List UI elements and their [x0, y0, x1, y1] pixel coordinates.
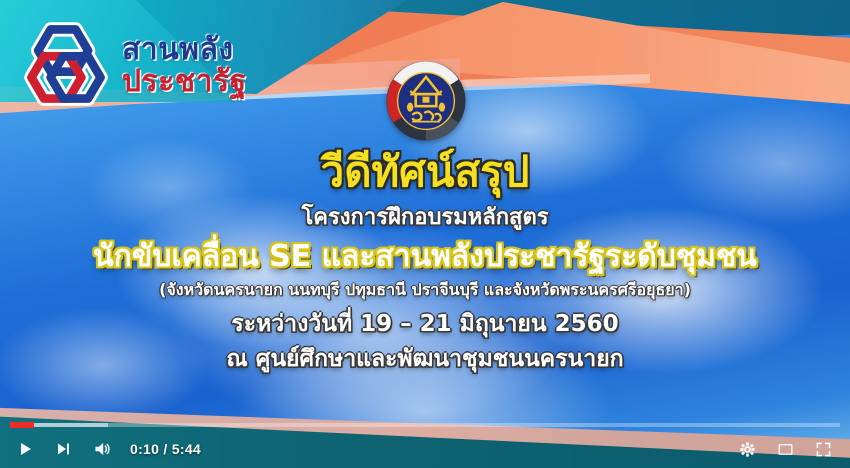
volume-button[interactable]: [82, 434, 120, 464]
settings-button[interactable]: [728, 434, 766, 464]
fullscreen-button[interactable]: [804, 434, 842, 464]
video-player[interactable]: สานพลัง ประชารัฐ: [0, 0, 850, 468]
miniplayer-icon: [776, 440, 795, 459]
brand-text: สานพลัง ประชารัฐ: [122, 31, 247, 97]
next-video-button[interactable]: [44, 434, 82, 464]
miniplayer-button[interactable]: [766, 434, 804, 464]
progress-track[interactable]: [10, 423, 840, 427]
progress-played: [10, 422, 34, 428]
fullscreen-icon: [814, 440, 833, 459]
play-button[interactable]: [6, 434, 44, 464]
controls-left-group: 0:10 / 5:44: [6, 434, 209, 464]
brand-line-2: ประชารัฐ: [122, 67, 247, 97]
player-control-bar[interactable]: 0:10 / 5:44: [0, 420, 850, 468]
progress-bar[interactable]: [10, 422, 840, 427]
settings-gear-icon: [738, 440, 757, 459]
brand-line-1: สานพลัง: [122, 35, 247, 65]
thai-pavilion-emblem-icon: [383, 58, 469, 144]
controls-right-group: [728, 434, 842, 464]
play-icon: [16, 440, 34, 458]
brand-logo: สานพลัง ประชารัฐ: [18, 10, 278, 118]
time-display: 0:10 / 5:44: [120, 441, 209, 457]
volume-icon: [91, 439, 111, 459]
next-icon: [54, 440, 72, 458]
interlocking-hexagons-logo-icon: [18, 16, 114, 112]
